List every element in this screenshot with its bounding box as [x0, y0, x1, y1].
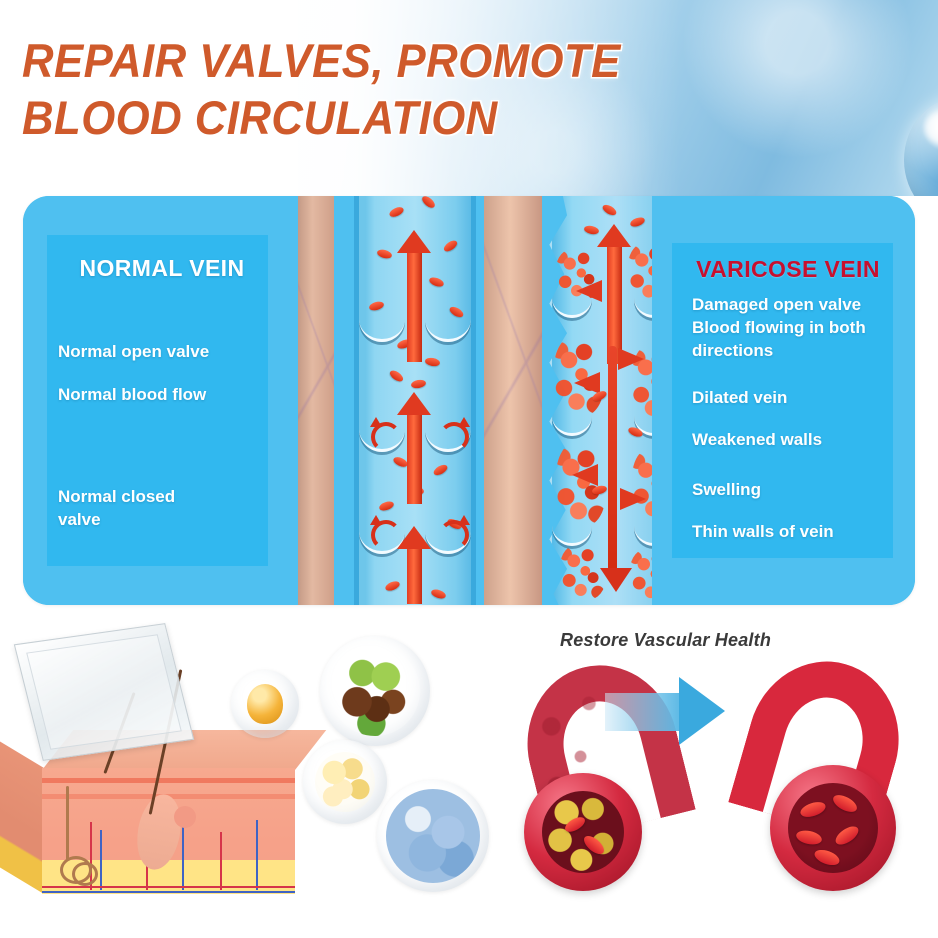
- vessel-comparison: [500, 655, 938, 938]
- patch-inner-membrane: [26, 634, 182, 750]
- red-blood-cell: [420, 196, 437, 210]
- red-blood-cell: [830, 792, 859, 816]
- reflux-arrow-down: [600, 568, 632, 592]
- capillary-venule: [256, 820, 258, 890]
- clear-lumen: [788, 783, 878, 873]
- varicose-vein-item-1: Damaged open valveBlood flowing in bothd…: [692, 293, 892, 362]
- leg-skin-strip: [298, 196, 334, 605]
- red-blood-cell: [442, 238, 459, 253]
- normal-vein-illustration: [334, 196, 484, 605]
- red-blood-cell: [813, 847, 842, 868]
- horse-chestnut-bubble: [320, 636, 430, 746]
- leg-skin-photo: [484, 196, 542, 605]
- varicose-line-3: directions: [692, 341, 773, 360]
- page-title: REPAIR VALVES, PROMOTE BLOOD CIRCULATION: [22, 32, 673, 146]
- blue-molecule-bubble: [377, 780, 489, 892]
- varicose-line-2: Blood flowing in both: [692, 318, 866, 337]
- transformation-arrow-icon: [605, 677, 725, 745]
- backflow-arrow-left: [574, 372, 600, 394]
- oil-droplet-bubble: [231, 670, 299, 738]
- reflux-channel: [608, 346, 617, 576]
- varicose-vein-item-5: Thin walls of vein: [692, 520, 892, 543]
- blood-flow-arrow-up: [407, 250, 422, 362]
- healthy-vessel-cross-section: [770, 765, 896, 891]
- diseased-vessel-cross-section: [524, 773, 642, 891]
- backflow-arrow-right: [620, 488, 646, 510]
- skin-front-face: [42, 768, 295, 894]
- red-blood-cell: [833, 823, 862, 848]
- epidermis-layer: [42, 778, 295, 783]
- header-banner: REPAIR VALVES, PROMOTE BLOOD CIRCULATION: [0, 0, 938, 196]
- skin-side-face: [0, 734, 44, 894]
- oil-droplet-icon: [247, 684, 283, 724]
- capillary-venule: [100, 830, 102, 890]
- red-blood-cell: [430, 588, 447, 600]
- plaque-lumen: [542, 791, 624, 873]
- molecule-sphere-icon: [904, 96, 938, 196]
- red-blood-cell: [795, 828, 823, 846]
- product-infographic: REPAIR VALVES, PROMOTE BLOOD CIRCULATION: [0, 0, 938, 938]
- red-blood-cell: [388, 368, 405, 383]
- backflow-arrow-left: [572, 464, 598, 486]
- red-blood-cell: [384, 579, 401, 592]
- valve-curved-arrow: [371, 520, 401, 550]
- varicose-vein-item-4: Swelling: [692, 478, 892, 501]
- valve-curved-arrow: [439, 422, 469, 452]
- backflow-arrow-left: [576, 280, 602, 302]
- arteriole-trunk: [42, 886, 295, 888]
- transdermal-patch: [14, 623, 194, 761]
- skin-vein-texture: [484, 196, 542, 605]
- red-blood-cell: [428, 276, 445, 289]
- golden-capsule-bubble: [303, 740, 387, 824]
- varicose-vein-item-2: Dilated vein: [692, 386, 892, 409]
- vein-valve-cusp: [425, 308, 471, 342]
- varicose-vein-title: VARICOSE VEIN: [690, 256, 886, 283]
- red-blood-cell: [581, 833, 607, 858]
- red-blood-cell: [378, 500, 395, 512]
- sweat-gland-coil: [72, 862, 98, 886]
- capsule-molecule-icon: [315, 752, 375, 812]
- horse-chestnut-icon: [330, 646, 420, 736]
- red-blood-cell: [388, 205, 405, 219]
- valve-curved-arrow: [439, 520, 469, 550]
- blood-flow-arrow-up: [407, 412, 422, 504]
- red-blood-cell: [424, 357, 440, 367]
- blood-flow-arrow-up: [407, 546, 422, 604]
- normal-vein-title: NORMAL VEIN: [62, 255, 262, 282]
- capillary-venule: [182, 824, 184, 890]
- red-blood-cell: [432, 463, 449, 477]
- capillary-arteriole: [220, 832, 222, 890]
- backflow-arrow-right: [618, 348, 644, 370]
- sebaceous-gland: [174, 806, 196, 828]
- arrow-shaft: [605, 693, 685, 731]
- normal-vein-item-2: Normal blood flow: [58, 383, 263, 406]
- vein-tube: [354, 196, 476, 605]
- valve-curved-arrow: [371, 422, 401, 452]
- venule-trunk: [42, 891, 295, 893]
- skin-cross-section-diagram: [42, 730, 342, 905]
- restore-vascular-health-caption: Restore Vascular Health: [560, 630, 820, 651]
- arrow-head: [679, 677, 725, 745]
- red-blood-cell: [563, 814, 588, 835]
- red-blood-cell: [410, 379, 426, 389]
- sweat-duct: [66, 786, 69, 860]
- red-blood-cell: [799, 799, 828, 819]
- normal-vein-item-1: Normal open valve: [58, 340, 263, 363]
- blue-molecule-icon: [386, 789, 480, 883]
- skin-vein-texture: [298, 196, 334, 605]
- varicose-vein-item-3: Weakened walls: [692, 428, 892, 451]
- red-blood-cell: [376, 248, 393, 260]
- normal-vein-item-3: Normal closed valve: [58, 485, 218, 531]
- vein-valve-cusp: [359, 308, 405, 342]
- varicose-line-1: Damaged open valve: [692, 295, 861, 314]
